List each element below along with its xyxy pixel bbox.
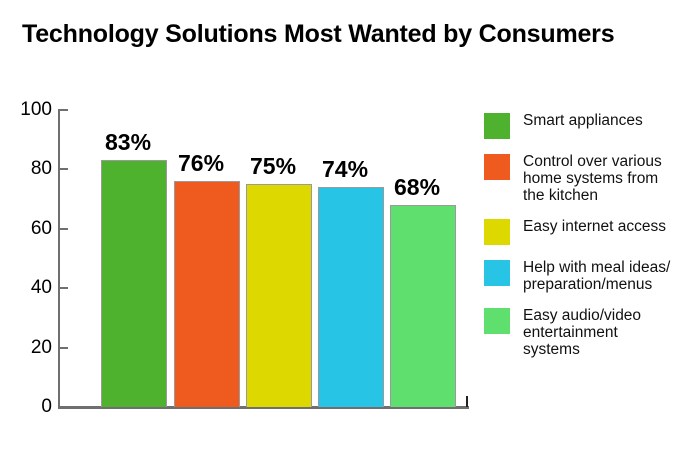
y-axis-tick-mark: [58, 168, 68, 170]
y-axis-tick-label-text: 40: [4, 278, 52, 297]
y-axis-tick-label: 80: [0, 159, 52, 178]
y-axis-tick-label: 20: [0, 338, 52, 357]
y-axis-tick-label: 100: [0, 100, 52, 119]
chart-legend: Smart appliancesControl over various hom…: [484, 112, 700, 372]
legend-item-label: Smart appliances: [523, 112, 700, 129]
y-axis-tick-label-text: 20: [4, 338, 52, 357]
y-axis-tick-mark: [58, 109, 68, 111]
y-axis-tick-mark: [58, 406, 68, 408]
legend-item[interactable]: Easy internet access: [484, 218, 700, 245]
y-axis-tick-label: 60: [0, 219, 52, 238]
bar: [318, 187, 384, 407]
y-axis-tick-label-text: 60: [4, 219, 52, 238]
legend-item[interactable]: Smart appliances: [484, 112, 700, 139]
legend-color-swatch-icon: [484, 308, 510, 334]
y-axis-tick-mark: [58, 287, 68, 289]
legend-item-label: Easy internet access: [523, 218, 700, 235]
bar-value-label: 76%: [178, 152, 224, 175]
legend-color-swatch-icon: [484, 154, 510, 180]
y-axis-tick-mark: [58, 347, 68, 349]
legend-color-swatch-icon: [484, 113, 510, 139]
legend-item[interactable]: Help with meal ideas/ preparation/menus: [484, 259, 700, 293]
legend-color-swatch-icon: [484, 219, 510, 245]
legend-item-label: Control over various home systems from t…: [523, 153, 700, 204]
bar: [390, 205, 456, 407]
legend-item-label: Easy audio/video entertainment systems: [523, 307, 700, 358]
y-axis-tick-mark: [58, 228, 68, 230]
bar-value-label: 68%: [394, 176, 440, 199]
bar: [174, 181, 240, 407]
chart-plot-area: 100806040200 83%76%75%74%68%: [0, 0, 480, 458]
y-axis-tick-label-text: 100: [4, 100, 52, 119]
bar: [246, 184, 312, 407]
bar: [101, 160, 167, 407]
legend-item[interactable]: Easy audio/video entertainment systems: [484, 307, 700, 358]
y-axis-tick-label: 40: [0, 278, 52, 297]
bar-value-label: 83%: [105, 131, 151, 154]
y-axis-tick-label-text: 80: [4, 159, 52, 178]
bar-value-label: 75%: [250, 155, 296, 178]
legend-item[interactable]: Control over various home systems from t…: [484, 153, 700, 204]
bar-value-label: 74%: [322, 158, 368, 181]
x-axis-end-tick: [466, 396, 468, 407]
y-axis-tick-label: 0: [0, 397, 52, 416]
legend-item-label: Help with meal ideas/ preparation/menus: [523, 259, 700, 293]
legend-color-swatch-icon: [484, 260, 510, 286]
y-axis-line: [58, 110, 60, 408]
y-axis-tick-label-text: 0: [4, 397, 52, 416]
